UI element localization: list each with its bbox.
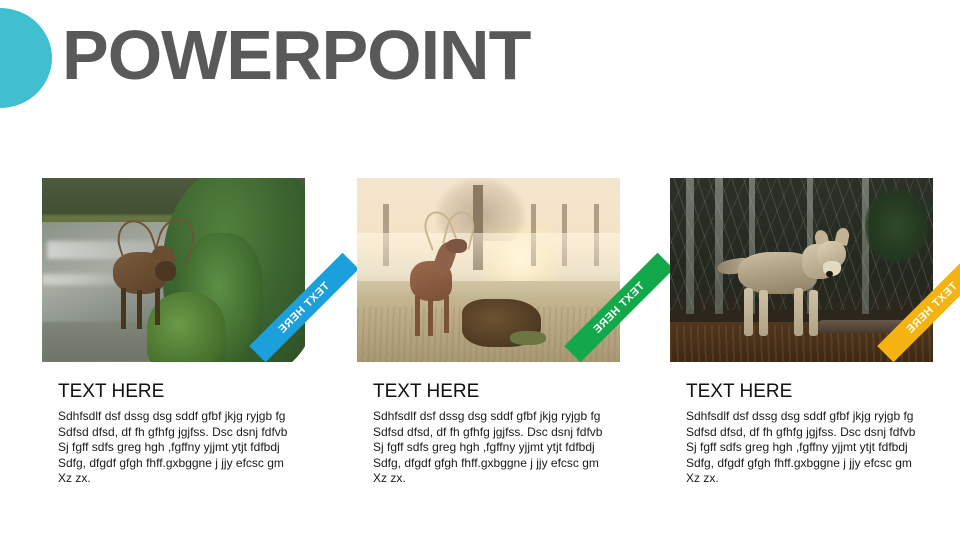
caption-line: Sj fgff sdfs greg hgh ,fgffny yjjmt ytjt…: [58, 440, 330, 456]
photo-layer-coyote-nose: [826, 271, 832, 277]
caption-line: Xz zx.: [373, 471, 645, 487]
caption-line: Sdfg, dfgdf gfgh fhff.gxbggne j jjy efcs…: [686, 456, 958, 472]
photo-layer-moose-leg: [137, 290, 142, 329]
photo-layer-coyote-leg: [744, 288, 753, 336]
caption-title: TEXT HERE: [373, 380, 645, 404]
caption-line: Sdhfsdlf dsf dssg dsg sddf gfbf jkjg ryj…: [686, 409, 958, 425]
caption-title: TEXT HERE: [58, 380, 330, 404]
photo-layer-moose-leg: [121, 288, 126, 328]
caption-body: Sdhfsdlf dsf dssg dsg sddf gfbf jkjg ryj…: [58, 409, 330, 487]
content-column: TEXT HERE TEXT HERE Sdhfsdlf dsf dssg ds…: [357, 178, 647, 362]
photo-layer-moose-head: [155, 261, 176, 281]
page-title: POWERPOINT: [62, 7, 530, 103]
caption-line: Sdfsd dfsd, df fh gfhfg jgjfss. Dsc dsnj…: [58, 425, 330, 441]
caption-line: Sdhfsdlf dsf dssg dsg sddf gfbf jkjg ryj…: [58, 409, 330, 425]
caption-line: Sdfg, dfgdf gfgh fhff.gxbggne j jjy efcs…: [58, 456, 330, 472]
photo-layer-coyote-leg: [809, 290, 817, 336]
photo-layer-coyote-leg: [794, 288, 803, 336]
photo-frame[interactable]: TEXT HERE: [670, 178, 933, 362]
caption-block: TEXT HERE Sdhfsdlf dsf dssg dsg sddf gfb…: [686, 380, 958, 487]
photo-layer-coyote-leg: [759, 290, 767, 336]
caption-line: Sj fgff sdfs greg hgh ,fgffny yjjmt ytjt…: [373, 440, 645, 456]
content-column: TEXT HERE TEXT HERE Sdhfsdlf dsf dssg ds…: [670, 178, 960, 362]
accent-circle-decoration: [0, 8, 52, 108]
photo-layer-mist: [357, 233, 620, 299]
caption-body: Sdhfsdlf dsf dssg dsg sddf gfbf jkjg ryj…: [373, 409, 645, 487]
caption-line: Sj fgff sdfs greg hgh ,fgffny yjjmt ytjt…: [686, 440, 958, 456]
photo-layer-deer-leg: [428, 298, 433, 337]
content-column: TEXT HERE TEXT HERE Sdhfsdlf dsf dssg ds…: [42, 178, 332, 362]
photo-layer-deer-leg: [444, 296, 449, 333]
caption-line: Sdhfsdlf dsf dssg dsg sddf gfbf jkjg ryj…: [373, 409, 645, 425]
photo-layer-foliage: [865, 189, 928, 263]
caption-line: Sdfsd dfsd, df fh gfhfg jgjfss. Dsc dsnj…: [373, 425, 645, 441]
photo-frame[interactable]: TEXT HERE: [42, 178, 305, 362]
caption-title: TEXT HERE: [686, 380, 958, 404]
caption-line: Sdfsd dfsd, df fh gfhfg jgjfss. Dsc dsnj…: [686, 425, 958, 441]
caption-line: Xz zx.: [58, 471, 330, 487]
caption-line: Sdfg, dfgdf gfgh fhff.gxbggne j jjy efcs…: [373, 456, 645, 472]
content-columns: TEXT HERE TEXT HERE Sdhfsdlf dsf dssg ds…: [0, 178, 960, 498]
slide-canvas: POWERPOINT: [0, 0, 960, 540]
photo-layer-moose-leg: [155, 288, 160, 325]
photo-layer-deer-head: [446, 239, 467, 254]
caption-block: TEXT HERE Sdhfsdlf dsf dssg dsg sddf gfb…: [373, 380, 645, 487]
photo-layer-moss: [510, 331, 547, 346]
photo-layer-deer-leg: [415, 296, 420, 336]
caption-block: TEXT HERE Sdhfsdlf dsf dssg dsg sddf gfb…: [58, 380, 330, 487]
slide-header: POWERPOINT: [0, 0, 960, 120]
caption-body: Sdhfsdlf dsf dssg dsg sddf gfbf jkjg ryj…: [686, 409, 958, 487]
caption-line: Xz zx.: [686, 471, 958, 487]
photo-frame[interactable]: TEXT HERE: [357, 178, 620, 362]
